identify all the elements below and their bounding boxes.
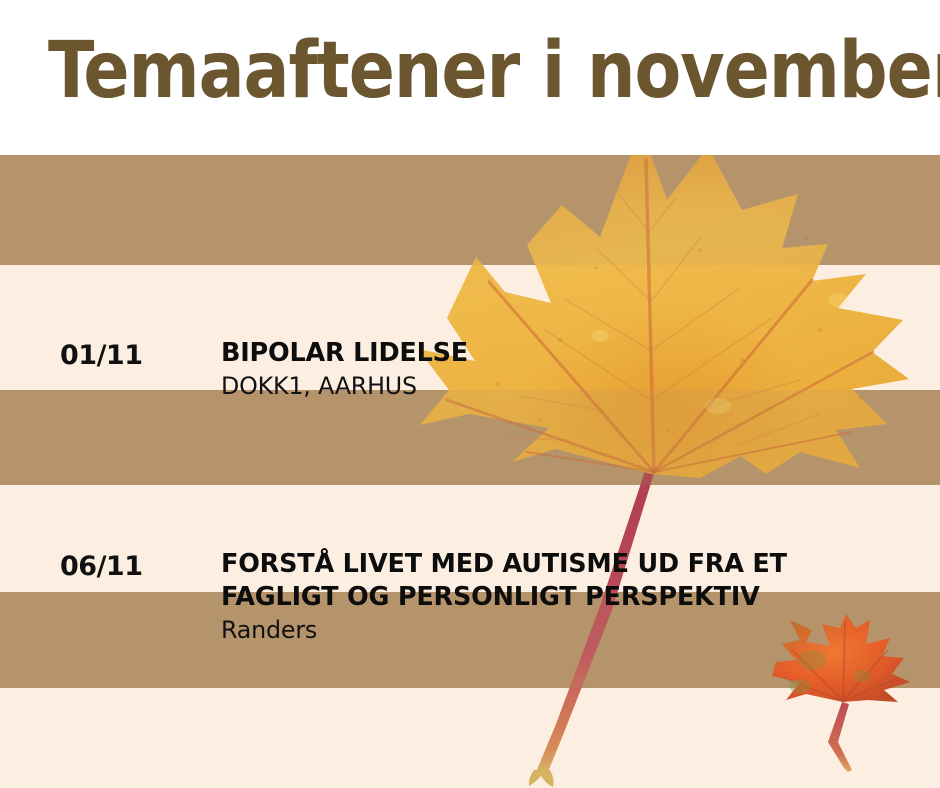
schedule-row[interactable]: 06/11 FORSTÅ LIVET MED AUTISME UD FRA ET… bbox=[0, 265, 940, 390]
schedule-row[interactable]: 15/11 SKIZOFRENI Biblioteket i Rønde bbox=[0, 390, 940, 485]
schedule-row[interactable]: 22/11 FORSTÅ DIAGNOSEN BORDERLINE Hammel… bbox=[0, 592, 940, 688]
poster: 01/11 BIPOLAR LIDELSE DOKK1, AARHUS 06/1… bbox=[0, 0, 940, 788]
page-title: Temaaftener i november bbox=[48, 28, 940, 114]
schedule-row[interactable]: 15/11 NÅR TRAUMER MEDFØRER PTSD Viborg B… bbox=[0, 485, 940, 592]
poster-header: Temaaftener i november bbox=[0, 0, 940, 155]
schedule-row[interactable]: 27/11 SKIZOFRENI Minihøjskolen i Herning bbox=[0, 688, 940, 788]
schedule-row[interactable]: 01/11 BIPOLAR LIDELSE DOKK1, AARHUS bbox=[0, 155, 940, 265]
